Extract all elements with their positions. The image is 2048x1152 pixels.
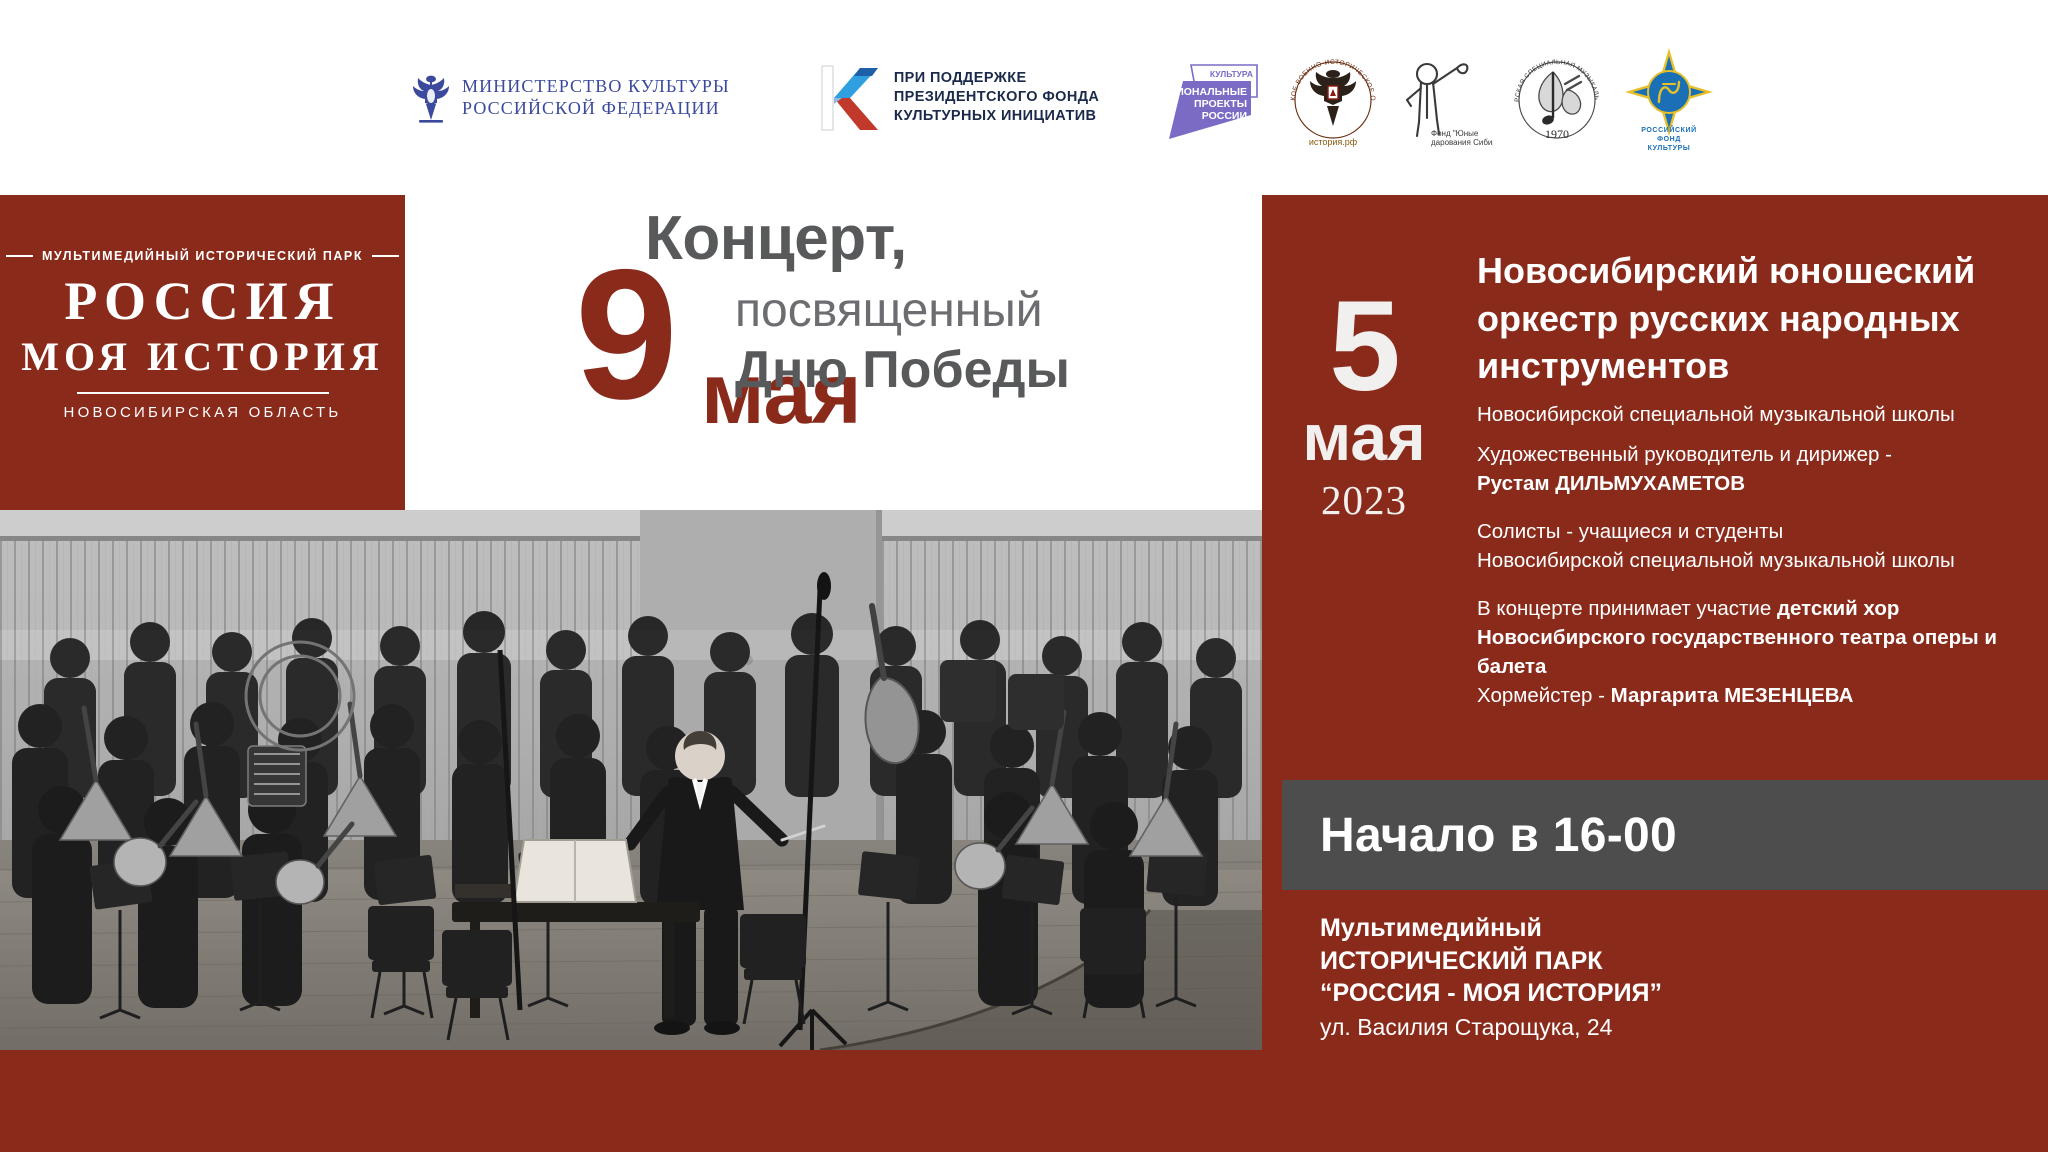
rfk-line1: РОССИЙСКИЙ xyxy=(1642,125,1698,134)
park-kicker-row: МУЛЬТИМЕДИЙНЫЙ ИСТОРИЧЕСКИЙ ПАРК xyxy=(0,249,405,263)
title-line-concert: Концерт, xyxy=(645,203,907,274)
conductor-label: Художественный руководитель и дирижер - xyxy=(1477,440,2037,469)
presidential-fund-text: ПРИ ПОДДЕРЖКЕ ПРЕЗИДЕНТСКОГО ФОНДА КУЛЬТ… xyxy=(894,69,1099,126)
logo-line: МИНИСТЕРСТВО КУЛЬТУРЫ xyxy=(462,76,730,98)
choirmaster-name: Маргарита МЕЗЕНЦЕВА xyxy=(1611,684,1854,707)
guest-choir-label: детский хор xyxy=(1777,597,1899,620)
park-word-rossiya: РОССИЯ xyxy=(0,275,405,328)
imperial-eagle-seal-icon: РОССИЙСКОЕ ВОЕННО-ИСТОРИЧЕСКОЕ ОБЩЕСТВО … xyxy=(1287,48,1379,148)
natproj-line2: ПРОЕКТЫ xyxy=(1194,98,1247,110)
logo-special-music-school: НОВОСИБИРСКАЯ СПЕЦИАЛЬНАЯ МУЗЫКАЛЬНАЯ ШК… xyxy=(1509,46,1605,150)
ministry-of-culture-text: МИНИСТЕРСТВО КУЛЬТУРЫ РОССИЙСКОЙ ФЕДЕРАЦ… xyxy=(462,76,730,120)
fond-line2: дарования Сибири" xyxy=(1431,138,1493,147)
logo-line: ПРИ ПОДДЕРЖКЕ xyxy=(894,69,1099,88)
choirmaster-line: Хормейстер - Маргарита МЕЗЕНЦЕВА xyxy=(1477,681,2037,710)
rvio-caption: история.рф xyxy=(1309,137,1358,147)
event-date-month: мая xyxy=(1274,404,1454,470)
natproj-line3: РОССИИ xyxy=(1202,110,1247,122)
logo-line: КУЛЬТУРНЫХ ИНИЦИАТИВ xyxy=(894,107,1099,126)
spacer xyxy=(1477,575,2037,594)
spacer xyxy=(1477,498,2037,517)
logo-line: ПРЕЗИДЕНТСКОГО ФОНДА xyxy=(894,88,1099,107)
park-region-text: НОВОСИБИРСКАЯ ОБЛАСТЬ xyxy=(0,404,405,421)
guest-theatre-name: Новосибирского государственного театра о… xyxy=(1477,623,2037,681)
title-line-dedicated: посвященный xyxy=(735,283,1043,338)
guest-choir-line: В концерте принимает участие детский хор xyxy=(1477,594,2037,623)
rfk-line2: ФОНД xyxy=(1657,136,1681,143)
spacer xyxy=(1477,429,2037,440)
natproj-line1: НАЦИОНАЛЬНЫЕ xyxy=(1161,86,1247,98)
fond-line1: Фонд "Юные xyxy=(1431,129,1479,138)
poster-title-block: 9 мая Концерт, посвященный Дню Победы xyxy=(405,195,1262,510)
soloists-line-2: Новосибирской специальной музыкальной шк… xyxy=(1477,546,2037,575)
nsmsh-year: 1970 xyxy=(1545,127,1569,141)
guest-intro-text: В концерте принимает участие xyxy=(1477,597,1777,620)
star-monogram-icon: РОССИЙСКИЙ ФОНД КУЛЬТУРЫ xyxy=(1621,44,1717,152)
sponsor-logo-strip: МИНИСТЕРСТВО КУЛЬТУРЫ РОССИЙСКОЙ ФЕДЕРАЦ… xyxy=(0,0,2048,195)
venue-line-2: ИСТОРИЧЕСКИЙ ПАРК xyxy=(1320,945,2048,978)
park-word-moya-istoriya: МОЯ ИСТОРИЯ xyxy=(0,337,405,376)
soloists-line-1: Солисты - учащиеся и студенты xyxy=(1477,517,2037,546)
logo-national-projects: КУЛЬТУРА НАЦИОНАЛЬНЫЕ ПРОЕКТЫ РОССИИ xyxy=(1161,53,1261,143)
venue-address: ул. Василия Старощука, 24 xyxy=(1320,1012,2048,1043)
orchestra-photo xyxy=(0,510,1262,1050)
ensemble-name: Новосибирский юношеский оркестр русских … xyxy=(1477,247,2037,390)
concert-poster: МИНИСТЕРСТВО КУЛЬТУРЫ РОССИЙСКОЙ ФЕДЕРАЦ… xyxy=(0,0,2048,1152)
kicker-rule-right xyxy=(372,255,399,257)
venue-line-3: “РОССИЯ - МОЯ ИСТОРИЯ” xyxy=(1320,977,2048,1010)
natproj-kicker: КУЛЬТУРА xyxy=(1210,69,1253,79)
event-date-day: 5 xyxy=(1274,295,1454,400)
orchestra-photo-illustration xyxy=(0,510,1262,1050)
note-leaf-seal-icon: НОВОСИБИРСКАЯ СПЕЦИАЛЬНАЯ МУЗЫКАЛЬНАЯ ШК… xyxy=(1509,46,1605,150)
logo-presidential-fund: ПРИ ПОДДЕРЖКЕ ПРЕЗИДЕНТСКОГО ФОНДА КУЛЬТ… xyxy=(804,62,1115,134)
rfk-line3: КУЛЬТУРЫ xyxy=(1648,145,1691,152)
start-time-text: Начало в 16-00 xyxy=(1320,808,1677,863)
venue-block: Мультимедийный ИСТОРИЧЕСКИЙ ПАРК “РОССИЯ… xyxy=(1282,890,2048,1152)
logo-young-talents-siberia: Фонд "Юные дарования Сибири" xyxy=(1397,48,1493,148)
logo-russian-cultural-foundation: РОССИЙСКИЙ ФОНД КУЛЬТУРЫ xyxy=(1621,44,1717,152)
park-logo: МУЛЬТИМЕДИЙНЫЙ ИСТОРИЧЕСКИЙ ПАРК РОССИЯ … xyxy=(0,249,405,421)
logo-line: РОССИЙСКОЙ ФЕДЕРАЦИИ xyxy=(462,98,730,120)
tricolor-k-icon xyxy=(820,62,882,134)
conductor-figure-icon: Фонд "Юные дарования Сибири" xyxy=(1397,48,1493,148)
venue-line-1: Мультимедийный xyxy=(1320,912,2048,945)
bottom-accent-band xyxy=(0,1050,1282,1152)
start-time-bar: Начало в 16-00 xyxy=(1282,780,2048,890)
event-date: 5 мая 2023 xyxy=(1274,295,1454,521)
park-divider xyxy=(77,392,329,394)
kicker-rule-left xyxy=(6,255,33,257)
logo-ministry-of-culture: МИНИСТЕРСТВО КУЛЬТУРЫ РОССИЙСКОЙ ФЕДЕРАЦ… xyxy=(395,72,744,124)
choirmaster-label: Хормейстер - xyxy=(1477,684,1611,707)
national-projects-banner-icon: КУЛЬТУРА НАЦИОНАЛЬНЫЕ ПРОЕКТЫ РОССИИ xyxy=(1161,53,1261,143)
logo-military-historical-society: РОССИЙСКОЕ ВОЕННО-ИСТОРИЧЕСКОЕ ОБЩЕСТВО … xyxy=(1287,48,1379,148)
ensemble-school: Новосибирской специальной музыкальной шк… xyxy=(1477,400,2037,429)
park-kicker-text: МУЛЬТИМЕДИЙНЫЙ ИСТОРИЧЕСКИЙ ПАРК xyxy=(42,249,363,263)
park-brand-panel: МУЛЬТИМЕДИЙНЫЙ ИСТОРИЧЕСКИЙ ПАРК РОССИЯ … xyxy=(0,195,405,510)
conductor-name: Рустам ДИЛЬМУХАМЕТОВ xyxy=(1477,469,2037,498)
event-date-year: 2023 xyxy=(1274,480,1454,521)
performer-info: Новосибирский юношеский оркестр русских … xyxy=(1477,247,2037,711)
event-info-panel: 5 мая 2023 Новосибирский юношеский оркес… xyxy=(1262,195,2048,780)
title-line-victory-day: Дню Победы xyxy=(735,340,1070,400)
double-headed-eagle-icon xyxy=(409,72,453,124)
